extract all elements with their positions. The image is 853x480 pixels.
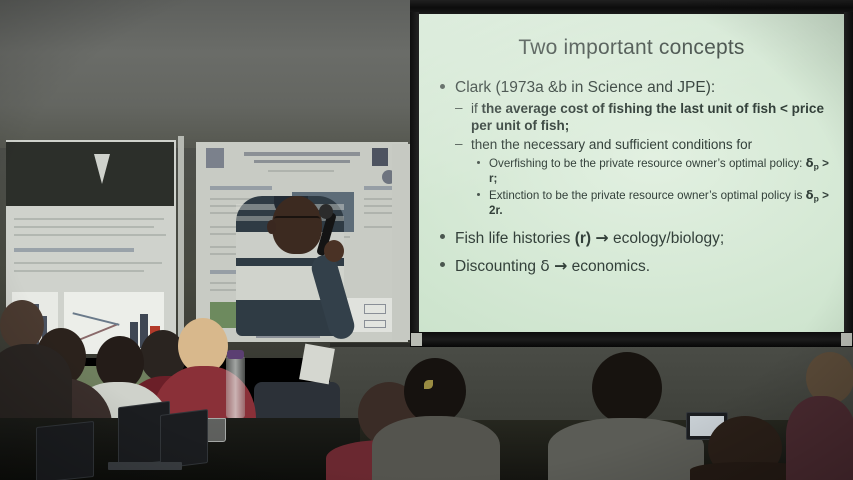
bullet-dot-icon <box>440 234 445 239</box>
subbullet-prefix: if <box>471 101 482 116</box>
segment-tail: ecology/biology; <box>609 230 724 247</box>
delta-symbol: δ <box>806 156 814 170</box>
slide-subbullet-if-condition: – if the average cost of fishing the las… <box>437 101 837 134</box>
drinking-glass <box>206 418 226 442</box>
segment-r: (r) <box>575 230 591 247</box>
cap-logo-icon <box>424 380 433 389</box>
screen-bottom-bar <box>410 332 853 347</box>
bullet-dot-icon <box>440 262 445 267</box>
poster-title-line <box>244 152 360 156</box>
slide-title: Two important concepts <box>419 36 844 60</box>
slide-subsubbullet-extinction: Extinction to be the private resource ow… <box>437 188 837 218</box>
arrow-icon: → <box>595 228 608 247</box>
screen-border-left <box>410 12 419 342</box>
laptop-base <box>108 462 182 470</box>
poster-crest-logo <box>206 148 224 168</box>
screen-clip-right <box>841 333 852 346</box>
subsubbullet-text: Extinction to be the private resource ow… <box>489 189 806 202</box>
eyeglasses-icon <box>274 216 320 226</box>
bullet-text: Clark (1973a &b in Science and JPE): <box>455 79 715 96</box>
slide-bullet-fish-life-histories: Fish life histories (r) → ecology/biolog… <box>437 228 837 249</box>
screen-border-right <box>844 12 853 342</box>
slide-bullet-discounting: Discounting δ → economics. <box>437 256 837 277</box>
subbullet-bold-text: the average cost of fishing the last uni… <box>471 101 824 132</box>
presentation-slide: Two important concepts Clark (1973a &b i… <box>419 14 844 334</box>
bottle-cap <box>227 350 244 359</box>
speaker-papers <box>299 344 335 385</box>
microphone-head <box>319 204 333 219</box>
laptop[interactable] <box>160 409 208 469</box>
arrow-icon: → <box>554 256 567 275</box>
slide-subbullet-then-conditions: – then the necessary and sufficient cond… <box>437 137 837 153</box>
laptop[interactable] <box>36 421 94 480</box>
subsubbullet-text: Overfishing to be the private resource o… <box>489 157 806 170</box>
poster-header-dark <box>6 142 174 206</box>
bullet-dot-icon <box>440 84 445 89</box>
delta-symbol: δ <box>806 188 814 202</box>
lecture-hall-scene: Two important concepts Clark (1973a &b i… <box>0 0 853 480</box>
projection-screen: Two important concepts Clark (1973a &b i… <box>410 0 853 350</box>
segment-text: Discounting <box>455 258 540 275</box>
dash-marker-icon: – <box>455 136 463 152</box>
delta-symbol: δ <box>540 257 549 275</box>
slide-subsubbullet-overfishing: Overfishing to be the private resource o… <box>437 156 837 186</box>
segment-tail: economics. <box>567 258 650 275</box>
poster-board-post <box>178 136 184 346</box>
dash-marker-icon: – <box>455 100 463 116</box>
water-bottle <box>226 356 245 418</box>
small-bullet-dot-icon <box>477 161 480 164</box>
speaker-hand <box>324 240 344 262</box>
segment-text: Fish life histories <box>455 230 575 247</box>
poster-org-logo <box>372 148 388 166</box>
subbullet-text: then the necessary and sufficient condit… <box>471 137 752 152</box>
slide-bullet-clark: Clark (1973a &b in Science and JPE): <box>437 78 837 98</box>
poster-board-right-edge <box>392 144 412 340</box>
slide-body: Clark (1973a &b in Science and JPE): – i… <box>437 76 837 278</box>
screen-casing <box>410 0 853 14</box>
screen-clip-left <box>411 333 422 346</box>
small-bullet-dot-icon <box>477 193 480 196</box>
